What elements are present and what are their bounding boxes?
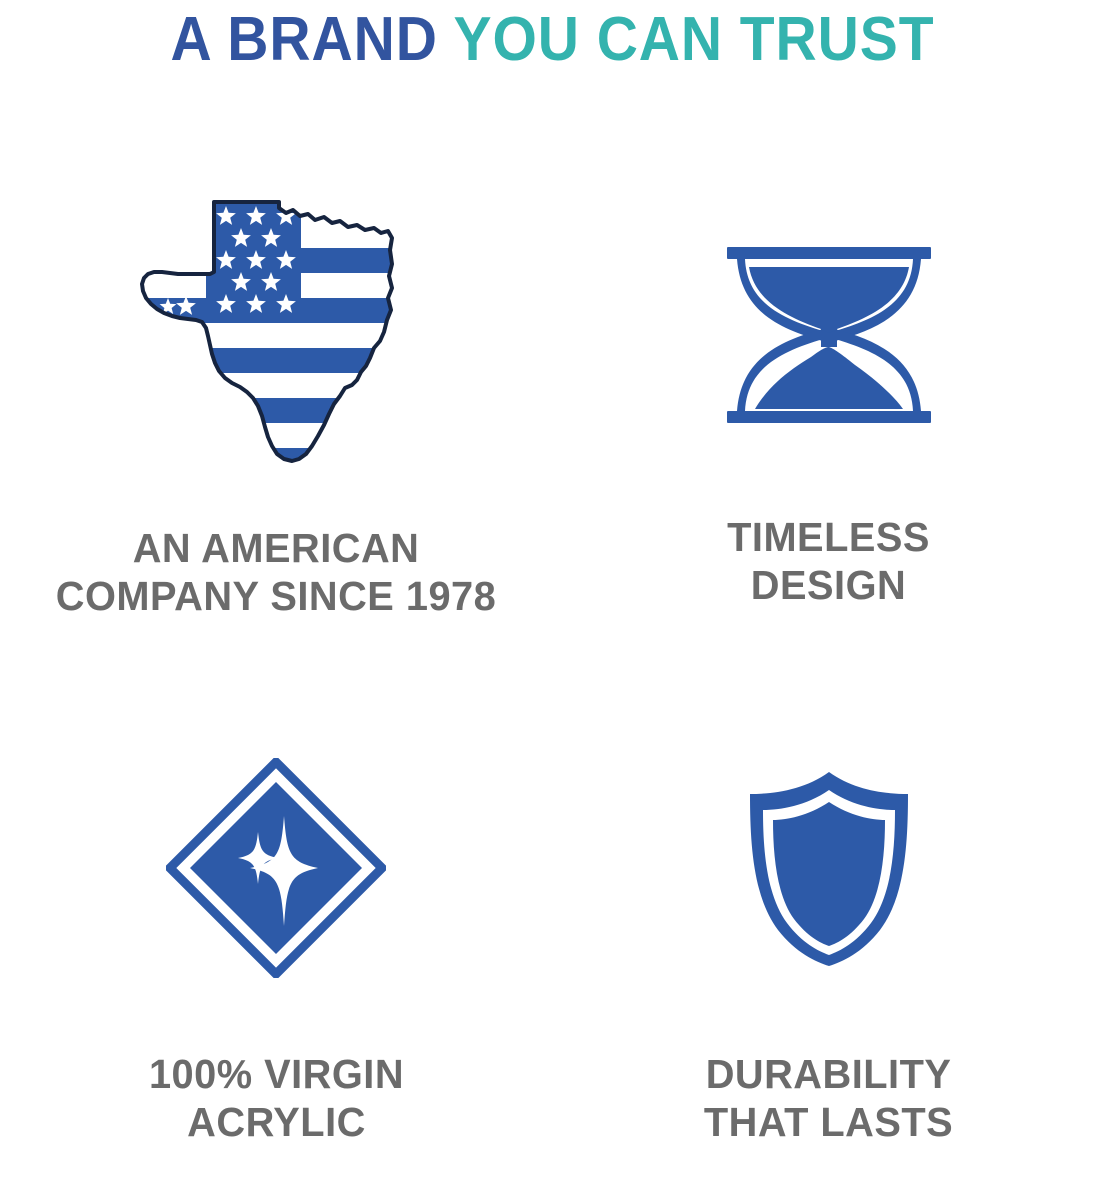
shield-icon bbox=[744, 758, 914, 978]
feature-item-virgin-acrylic: 100% VIRGIN ACRYLIC bbox=[0, 680, 552, 1191]
texas-usa-flag-icon bbox=[126, 180, 426, 500]
feature-caption: AN AMERICAN COMPANY SINCE 1978 bbox=[56, 524, 496, 620]
page-title-primary: A BRAND bbox=[170, 5, 453, 74]
feature-grid: AN AMERICAN COMPANY SINCE 1978 bbox=[0, 120, 1105, 1191]
page-title-secondary: YOU CAN TRUST bbox=[454, 5, 935, 74]
feature-caption: DURABILITY THAT LASTS bbox=[704, 1050, 953, 1146]
page-title: A BRAND YOU CAN TRUST bbox=[44, 4, 1061, 76]
diamond-sparkle-icon bbox=[166, 758, 386, 978]
feature-item-timeless-design: TIMELESS DESIGN bbox=[552, 120, 1105, 680]
hourglass-icon bbox=[725, 242, 933, 427]
feature-caption: TIMELESS DESIGN bbox=[727, 513, 930, 609]
feature-caption: 100% VIRGIN ACRYLIC bbox=[148, 1050, 403, 1146]
feature-item-durability: DURABILITY THAT LASTS bbox=[552, 680, 1105, 1191]
feature-item-american-company: AN AMERICAN COMPANY SINCE 1978 bbox=[0, 120, 552, 680]
